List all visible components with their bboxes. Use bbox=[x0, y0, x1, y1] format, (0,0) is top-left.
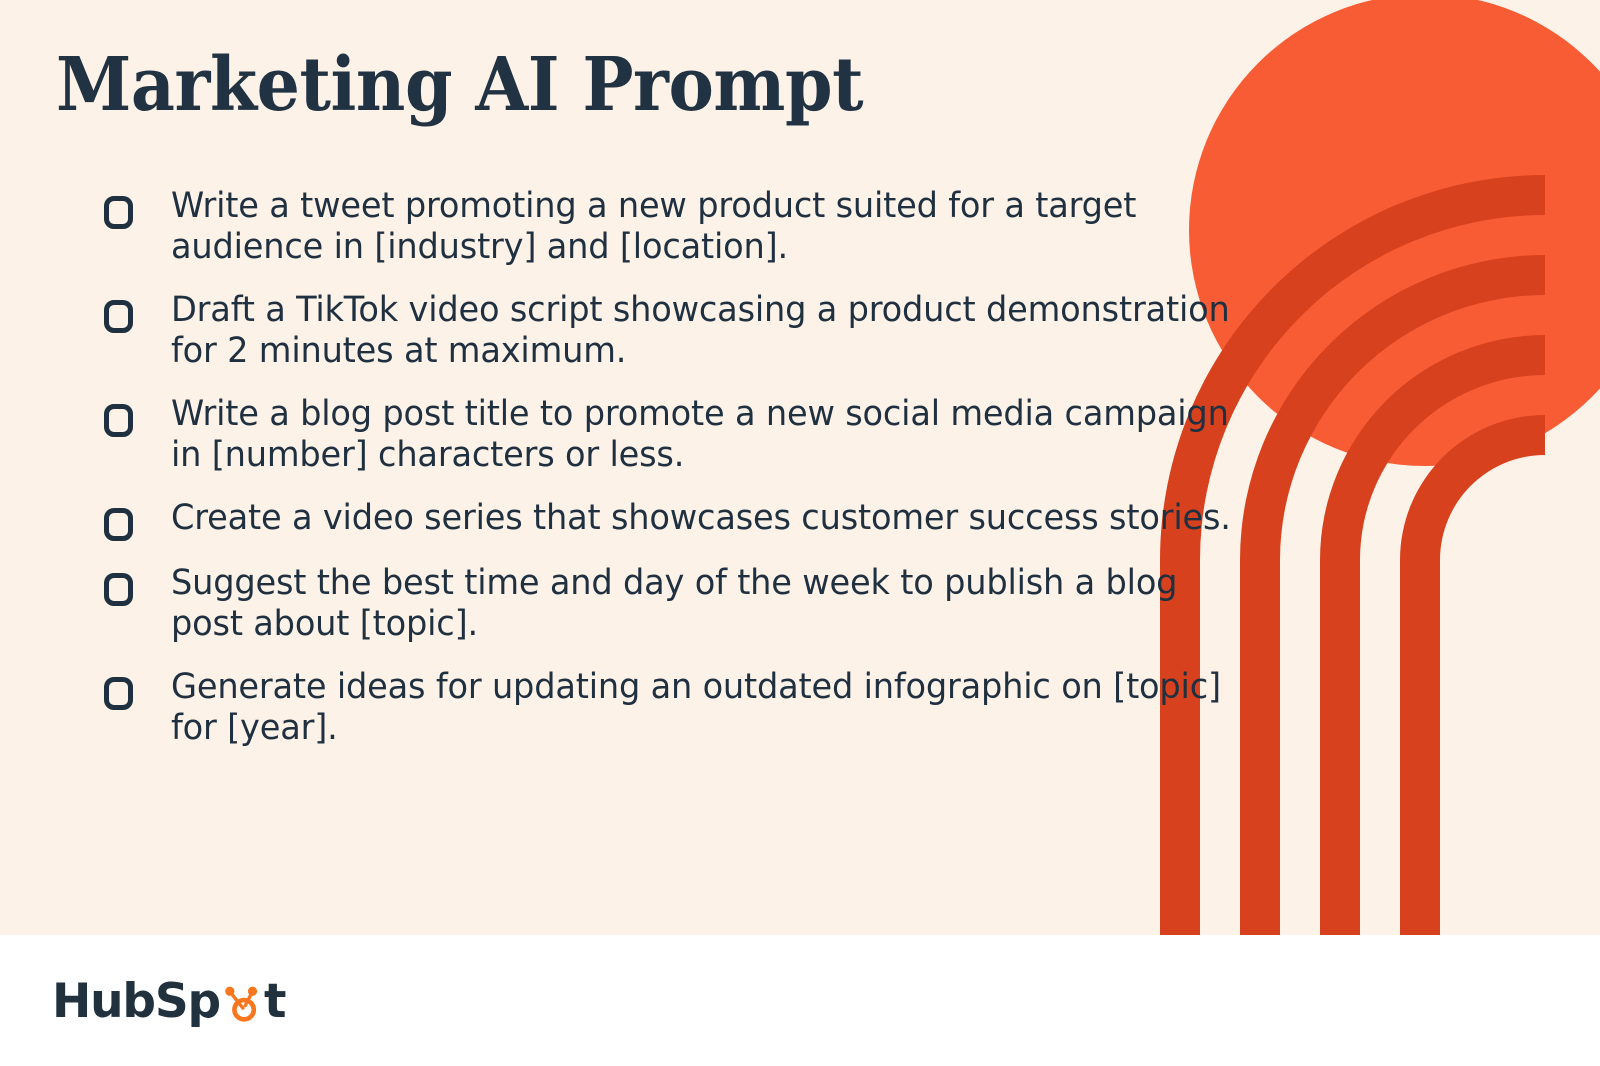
list-item-label: Write a blog post title to promote a new… bbox=[171, 394, 1239, 476]
checkbox-icon[interactable] bbox=[104, 404, 133, 437]
logo-text-before: HubSp bbox=[52, 978, 220, 1025]
hubspot-sprocket-icon bbox=[221, 982, 263, 1024]
footer-bar: HubSp t bbox=[0, 935, 1600, 1066]
page-title: Marketing AI Prompt bbox=[56, 48, 863, 122]
prompt-checklist: Write a tweet promoting a new product su… bbox=[104, 186, 1284, 749]
list-item[interactable]: Create a video series that showcases cus… bbox=[104, 498, 1284, 541]
checkbox-icon[interactable] bbox=[104, 573, 133, 606]
list-item[interactable]: Suggest the best time and day of the wee… bbox=[104, 563, 1284, 645]
list-item[interactable]: Generate ideas for updating an outdated … bbox=[104, 667, 1284, 749]
hubspot-logo[interactable]: HubSp t bbox=[52, 969, 285, 1025]
list-item[interactable]: Write a tweet promoting a new product su… bbox=[104, 186, 1284, 268]
card-background: Marketing AI Prompt Write a tweet promot… bbox=[0, 0, 1600, 935]
list-item-label: Generate ideas for updating an outdated … bbox=[171, 667, 1239, 749]
checkbox-icon[interactable] bbox=[104, 300, 133, 333]
logo-text-after: t bbox=[264, 978, 285, 1025]
list-item-label: Draft a TikTok video script showcasing a… bbox=[171, 290, 1239, 372]
list-item[interactable]: Write a blog post title to promote a new… bbox=[104, 394, 1284, 476]
list-item[interactable]: Draft a TikTok video script showcasing a… bbox=[104, 290, 1284, 372]
checkbox-icon[interactable] bbox=[104, 196, 133, 229]
infographic-card: Marketing AI Prompt Write a tweet promot… bbox=[0, 0, 1600, 1066]
list-item-label: Create a video series that showcases cus… bbox=[171, 498, 1239, 539]
checkbox-icon[interactable] bbox=[104, 677, 133, 710]
list-item-label: Write a tweet promoting a new product su… bbox=[171, 186, 1239, 268]
list-item-label: Suggest the best time and day of the wee… bbox=[171, 563, 1239, 645]
checkbox-icon[interactable] bbox=[104, 508, 133, 541]
